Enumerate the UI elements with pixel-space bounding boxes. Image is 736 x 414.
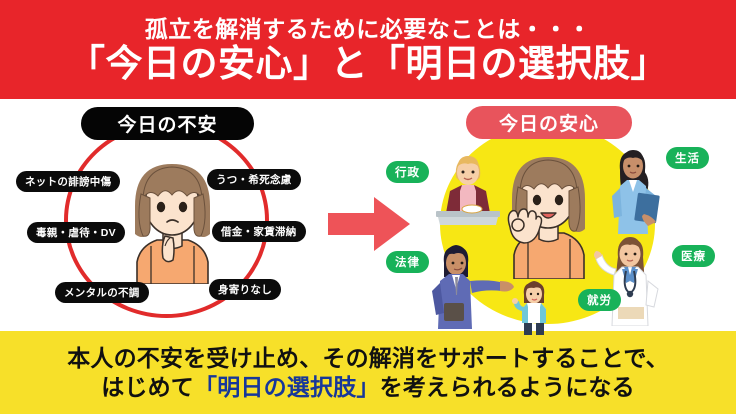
- header-title: 「今日の安心」と「明日の選択肢」: [68, 44, 668, 84]
- anxiety-tag-net-slander: ネットの誹謗中傷: [16, 171, 120, 192]
- transition-arrow: [326, 195, 412, 253]
- header-banner: 孤立を解消するために必要なことは・・・ 「今日の安心」と「明日の選択肢」: [0, 0, 736, 99]
- footer-line-2-suffix: を考えられるようになる: [380, 374, 635, 400]
- right-cluster-today-relief: 今日の安心: [380, 99, 736, 331]
- support-badge-legal: 法律: [386, 251, 429, 273]
- support-badge-medical: 医療: [672, 245, 715, 267]
- relieved-girl-illustration: [492, 147, 604, 279]
- left-panel-title-pill: 今日の不安: [81, 107, 254, 140]
- right-panel-title-pill: 今日の安心: [466, 106, 632, 139]
- footer-line-1: 本人の不安を受け止め、その解消をサポートすることで、: [67, 344, 669, 373]
- footer-line-2-prefix: はじめて: [101, 374, 194, 400]
- anxiety-tag-debt-rent: 借金・家賃滞納: [212, 221, 306, 242]
- left-cluster-today-anxiety: 今日の不安 ネットの誹謗中傷 毒親・虐待・DV メンタルの不調 うつ・希死念慮 …: [0, 99, 340, 331]
- anxiety-tag-depression: うつ・希死念慮: [207, 169, 301, 190]
- support-badge-employment: 就労: [578, 289, 621, 311]
- employment-support-worker-illustration: [510, 279, 558, 335]
- diagram-area: 今日の不安 ネットの誹謗中傷 毒親・虐待・DV メンタルの不調 うつ・希死念慮 …: [0, 99, 736, 331]
- support-badge-living: 生活: [666, 147, 709, 169]
- slide-root: 孤立を解消するために必要なことは・・・ 「今日の安心」と「明日の選択肢」 今日の…: [0, 0, 736, 414]
- welfare-worker-illustration: [598, 144, 668, 234]
- footer-accent-text: 「明日の選択肢」: [194, 374, 380, 400]
- header-subtitle: 孤立を解消するために必要なことは・・・: [145, 17, 592, 41]
- support-badge-administration: 行政: [386, 161, 429, 183]
- footer-banner: 本人の不安を受け止め、その解消をサポートすることで、 はじめて「明日の選択肢」を…: [0, 331, 736, 414]
- footer-line-2: はじめて「明日の選択肢」を考えられるようになる: [101, 373, 635, 402]
- right-arrow-icon: [326, 195, 412, 253]
- anxiety-tag-no-relatives: 身寄りなし: [209, 279, 281, 300]
- anxiety-tag-mental-health: メンタルの不調: [55, 282, 149, 303]
- anxiety-tag-abuse-dv: 毒親・虐待・DV: [27, 222, 125, 243]
